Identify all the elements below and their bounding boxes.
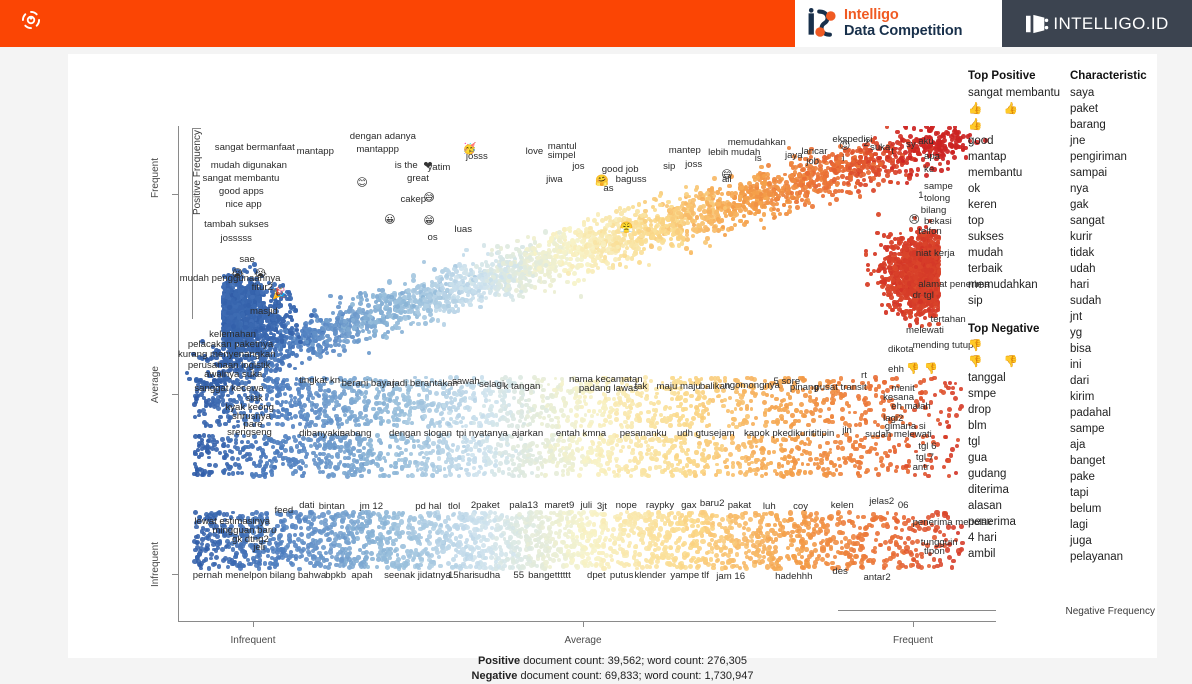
scatter-point[interactable] — [464, 298, 469, 303]
scatter-point[interactable] — [786, 186, 791, 191]
scatter-point[interactable] — [525, 247, 529, 251]
scatter-point[interactable] — [452, 267, 456, 271]
scatter-point[interactable] — [869, 153, 873, 157]
scatter-point[interactable] — [511, 298, 515, 302]
scatter-point[interactable] — [307, 332, 311, 336]
scatter-point[interactable] — [803, 193, 808, 198]
scatter-point[interactable] — [288, 315, 292, 319]
scatter-point[interactable] — [553, 290, 557, 294]
scatter-point[interactable] — [845, 190, 849, 194]
scatter-point[interactable] — [617, 217, 622, 222]
scatter-point[interactable] — [333, 331, 337, 335]
scatter-point[interactable] — [547, 243, 551, 247]
scatter-point[interactable] — [429, 319, 433, 323]
scatter-point[interactable] — [855, 149, 859, 153]
scatter-point[interactable] — [547, 254, 552, 259]
scatter-point[interactable] — [497, 293, 501, 297]
scatter-point[interactable] — [685, 213, 690, 218]
scatter-point[interactable] — [494, 259, 498, 263]
scatter-point[interactable] — [787, 200, 792, 205]
scatter-point[interactable] — [518, 250, 522, 254]
scatter-point[interactable] — [519, 260, 524, 265]
scatter-point[interactable] — [791, 165, 795, 169]
scatter-point[interactable] — [903, 316, 908, 321]
scatter-point[interactable] — [580, 239, 584, 243]
scatter-point[interactable] — [542, 280, 546, 284]
scatter-point[interactable] — [877, 168, 881, 172]
scatter-point[interactable] — [411, 278, 416, 283]
scatter-point[interactable] — [613, 257, 618, 262]
scatter-point[interactable] — [309, 313, 314, 318]
scatter-point[interactable] — [918, 153, 922, 157]
scatter-point[interactable] — [835, 183, 840, 188]
scatter-point[interactable] — [882, 165, 887, 170]
scatter-point[interactable] — [603, 255, 607, 259]
scatter-point[interactable] — [858, 194, 862, 198]
scatter-point[interactable] — [331, 311, 335, 315]
scatter-point[interactable] — [484, 296, 488, 300]
scatter-point[interactable] — [774, 192, 778, 196]
scatter-point[interactable] — [253, 300, 257, 304]
scatter-point[interactable] — [595, 255, 600, 260]
scatter-point[interactable] — [652, 197, 656, 201]
scatter-point[interactable] — [759, 218, 763, 222]
scatter-point[interactable] — [568, 226, 572, 230]
scatter-point[interactable] — [691, 234, 695, 238]
scatter-point[interactable] — [297, 335, 301, 339]
scatter-point[interactable] — [242, 297, 246, 301]
scatter-point[interactable] — [778, 212, 782, 216]
scatter-point[interactable] — [897, 151, 901, 155]
scatter-point[interactable] — [742, 214, 746, 218]
scatter-point[interactable] — [240, 312, 245, 317]
scatter-point[interactable] — [404, 302, 409, 307]
scatter-point[interactable] — [864, 252, 868, 256]
scatter-point[interactable] — [947, 126, 951, 130]
scatter-point[interactable] — [766, 176, 770, 180]
scatter-point[interactable] — [584, 250, 589, 255]
scatter-point[interactable] — [767, 181, 772, 186]
scatter-point[interactable] — [915, 173, 919, 177]
scatter-point[interactable] — [905, 181, 909, 185]
scatter-point[interactable] — [887, 265, 892, 270]
scatter-point[interactable] — [856, 189, 861, 194]
scatter-point[interactable] — [412, 304, 416, 308]
scatter-point[interactable] — [738, 195, 742, 199]
scatter-point[interactable] — [834, 197, 839, 202]
scatter-point[interactable] — [325, 351, 329, 355]
scatter-point[interactable] — [259, 326, 263, 330]
scatter-point[interactable] — [709, 200, 714, 205]
scatter-point[interactable] — [731, 217, 735, 221]
scatter-point[interactable] — [695, 185, 699, 189]
scatter-point[interactable] — [382, 293, 387, 298]
scatter-point[interactable] — [527, 279, 531, 283]
scatter-point[interactable] — [777, 179, 782, 184]
scatter-point[interactable] — [678, 224, 682, 228]
scatter-point[interactable] — [871, 162, 875, 166]
scatter-point[interactable] — [876, 212, 881, 217]
scatter-point[interactable] — [896, 181, 900, 185]
scatter-point[interactable] — [436, 295, 440, 299]
scatter-point[interactable] — [855, 181, 859, 185]
scatter-point[interactable] — [878, 162, 882, 166]
scatter-point[interactable] — [367, 330, 371, 334]
scatter-point[interactable] — [863, 183, 867, 187]
scatter-point[interactable] — [317, 337, 321, 341]
scatter-point[interactable] — [811, 180, 815, 184]
scatter-point[interactable] — [613, 248, 617, 252]
scatter-point[interactable] — [798, 179, 803, 184]
scatter-point[interactable] — [733, 223, 737, 227]
scatter-point[interactable] — [766, 163, 771, 168]
scatter-point[interactable] — [643, 209, 648, 214]
scatter-point[interactable] — [752, 191, 756, 195]
scatter-point[interactable] — [660, 230, 664, 234]
scatter-point[interactable] — [758, 201, 762, 205]
scatter-point[interactable] — [239, 305, 244, 310]
scatter-point[interactable] — [537, 243, 542, 248]
scatter-point[interactable] — [287, 292, 292, 297]
scatter-point[interactable] — [229, 315, 233, 319]
scatter-point[interactable] — [403, 282, 407, 286]
scatter-point[interactable] — [914, 158, 918, 162]
scatter-point[interactable] — [618, 262, 622, 266]
scatter-point[interactable] — [572, 271, 577, 276]
scatter-point[interactable] — [482, 243, 487, 248]
scatter-point[interactable] — [440, 286, 445, 291]
scatter-point[interactable] — [557, 260, 561, 264]
scatter-point[interactable] — [848, 166, 852, 170]
scatter-point[interactable] — [640, 214, 644, 218]
scatter-point[interactable] — [564, 242, 569, 247]
scatter-point[interactable] — [280, 356, 285, 361]
scatter-point[interactable] — [484, 260, 488, 264]
scatter-point[interactable] — [873, 252, 877, 256]
scatter-point[interactable] — [624, 265, 628, 269]
scatter-point[interactable] — [489, 252, 494, 257]
scatter-point[interactable] — [542, 255, 547, 260]
scatter-point[interactable] — [625, 246, 629, 250]
scatter-point[interactable] — [712, 176, 717, 181]
scatter-point[interactable] — [884, 310, 889, 315]
scatter-point[interactable] — [657, 246, 662, 251]
scatter-point[interactable] — [446, 304, 451, 309]
scatter-point[interactable] — [915, 317, 919, 321]
scatter-point[interactable] — [939, 168, 943, 172]
scatter-point[interactable] — [506, 284, 510, 288]
scatter-point[interactable] — [840, 189, 844, 193]
scatter-point[interactable] — [772, 207, 776, 211]
scatter-point[interactable] — [695, 215, 700, 220]
scatter-point[interactable] — [950, 150, 955, 155]
scatter-point[interactable] — [290, 326, 294, 330]
scatter-point[interactable] — [580, 247, 585, 252]
scatter-point[interactable] — [684, 246, 688, 250]
scatter-point[interactable] — [637, 260, 642, 265]
scatter-point[interactable] — [660, 240, 665, 245]
scatter-point[interactable] — [643, 200, 648, 205]
scatter-point[interactable] — [288, 336, 292, 340]
scatter-point[interactable] — [454, 275, 459, 280]
scatter-point[interactable] — [566, 271, 571, 276]
scatter-point[interactable] — [432, 267, 437, 272]
scatter-point[interactable] — [771, 202, 776, 207]
scatter-point[interactable] — [333, 342, 337, 346]
scatter-point[interactable] — [862, 178, 866, 182]
scatter-point[interactable] — [329, 344, 333, 348]
scatter-point[interactable] — [393, 314, 398, 319]
scatter-point[interactable] — [866, 263, 870, 267]
scatter-point[interactable] — [630, 242, 634, 246]
scatter-point[interactable] — [403, 316, 408, 321]
scatter-point[interactable] — [639, 250, 644, 255]
scatter-point[interactable] — [312, 331, 316, 335]
scatter-point[interactable] — [586, 234, 590, 238]
scatter-point[interactable] — [453, 299, 458, 304]
scatter-point[interactable] — [891, 158, 895, 162]
scatter-point[interactable] — [390, 326, 395, 331]
scatter-point[interactable] — [821, 194, 825, 198]
scatter-point[interactable] — [479, 285, 483, 289]
scatter-point[interactable] — [782, 203, 786, 207]
scatter-point[interactable] — [442, 322, 447, 327]
scatter-point[interactable] — [679, 215, 683, 219]
scatter-point[interactable] — [912, 126, 917, 131]
scatter-point[interactable] — [881, 178, 886, 183]
scatter-point[interactable] — [422, 297, 426, 301]
scatter-point[interactable] — [233, 292, 238, 297]
scatter-point[interactable] — [367, 351, 371, 355]
scatter-point[interactable] — [889, 180, 893, 184]
scatter-point[interactable] — [388, 313, 393, 318]
scatter-point[interactable] — [685, 237, 690, 242]
scatter-point[interactable] — [264, 370, 269, 375]
scatter-point[interactable] — [890, 166, 894, 170]
scatter-point[interactable] — [478, 305, 482, 309]
scatter-point[interactable] — [565, 280, 569, 284]
scatter-point[interactable] — [422, 315, 427, 320]
scatter-point[interactable] — [946, 160, 950, 164]
scatter-point[interactable] — [608, 236, 612, 240]
scatter-point[interactable] — [698, 205, 703, 210]
scatter-point[interactable] — [898, 134, 903, 139]
scatter-point[interactable] — [363, 291, 367, 295]
scatter-point[interactable] — [225, 294, 230, 299]
scatter-point[interactable] — [338, 295, 343, 300]
scatter-point[interactable] — [325, 339, 330, 344]
scatter-point[interactable] — [479, 298, 484, 303]
scatter-point[interactable] — [596, 266, 600, 270]
scatter-point[interactable] — [572, 281, 577, 286]
scatter-point[interactable] — [708, 244, 712, 248]
scatter-point[interactable] — [702, 229, 706, 233]
scatter-point[interactable] — [346, 327, 351, 332]
scatter-point[interactable] — [650, 234, 655, 239]
scatter-point[interactable] — [273, 368, 277, 372]
scatter-point[interactable] — [898, 147, 902, 151]
scatter-point[interactable] — [742, 205, 746, 209]
scatter-point[interactable] — [350, 335, 354, 339]
scatter-point[interactable] — [543, 229, 548, 234]
scatter-point[interactable] — [356, 314, 360, 318]
scatter-point[interactable] — [886, 155, 890, 159]
scatter-point[interactable] — [294, 353, 299, 358]
scatter-point[interactable] — [477, 289, 481, 293]
scatter-point[interactable] — [775, 202, 779, 206]
scatter-point[interactable] — [281, 283, 286, 288]
scatter-point[interactable] — [495, 244, 500, 249]
scatter-point[interactable] — [350, 302, 355, 307]
scatter-point[interactable] — [618, 206, 622, 210]
scatter-point[interactable] — [875, 231, 880, 236]
scatter-point[interactable] — [531, 274, 535, 278]
scatter-point[interactable] — [377, 288, 381, 292]
scatter-point[interactable] — [661, 218, 665, 222]
scatter-point[interactable] — [729, 226, 733, 230]
scatter-point[interactable] — [291, 345, 295, 349]
scatter-point[interactable] — [351, 297, 355, 301]
scatter-point[interactable] — [623, 250, 627, 254]
scatter-point[interactable] — [528, 255, 533, 260]
scatter-point[interactable] — [287, 363, 292, 368]
scatter-point[interactable] — [576, 278, 581, 283]
scatter-point[interactable] — [278, 367, 282, 371]
scatter-point[interactable] — [537, 279, 541, 283]
scatter-point[interactable] — [311, 350, 315, 354]
scatter-point[interactable] — [294, 308, 298, 312]
scatter-point[interactable] — [570, 264, 575, 269]
scatter-point[interactable] — [866, 170, 871, 175]
scatter-point[interactable] — [897, 169, 902, 174]
scatter-point[interactable] — [647, 263, 652, 268]
scatter-point[interactable] — [909, 227, 914, 232]
scatter-point[interactable] — [411, 273, 416, 278]
scatter-point[interactable] — [684, 185, 688, 189]
scatter-point[interactable] — [365, 298, 369, 302]
scatter-point[interactable] — [331, 349, 335, 353]
scatter-point[interactable] — [341, 344, 346, 349]
scatter-point[interactable] — [185, 371, 189, 375]
scatter-point[interactable] — [272, 322, 277, 327]
scatter-point[interactable] — [899, 232, 903, 236]
scatter-point[interactable] — [653, 208, 657, 212]
scatter-point[interactable] — [590, 264, 595, 269]
scatter-point[interactable] — [336, 305, 341, 310]
scatter-point[interactable] — [837, 189, 841, 193]
scatter-point[interactable] — [316, 329, 321, 334]
scatter-point[interactable] — [287, 352, 291, 356]
scatter-point[interactable] — [307, 327, 312, 332]
scatter-point[interactable] — [557, 230, 562, 235]
scatter-point[interactable] — [258, 333, 262, 337]
scatter-point[interactable] — [464, 248, 469, 253]
scatter-point[interactable] — [523, 252, 527, 256]
scatter-point[interactable] — [384, 304, 389, 309]
scatter-point[interactable] — [885, 126, 889, 129]
scatter-point[interactable] — [916, 167, 921, 172]
scatter-point[interactable] — [865, 282, 870, 287]
scatter-point[interactable] — [366, 303, 371, 308]
scatter-point[interactable] — [609, 251, 613, 255]
scatter-point[interactable] — [533, 240, 537, 244]
scatter-point[interactable] — [611, 265, 615, 269]
scatter-point[interactable] — [496, 250, 501, 255]
scatter-point[interactable] — [546, 270, 551, 275]
scatter-point[interactable] — [907, 301, 911, 305]
scatter-point[interactable] — [831, 163, 835, 167]
scatter-point[interactable] — [608, 222, 612, 226]
scatter-point[interactable] — [383, 332, 387, 336]
scatter-point[interactable] — [576, 246, 580, 250]
scatter-point[interactable] — [903, 126, 908, 129]
scatter-point[interactable] — [548, 283, 553, 288]
scatter-point[interactable] — [526, 235, 531, 240]
scatter-point[interactable] — [358, 301, 363, 306]
scatter-point[interactable] — [239, 288, 243, 292]
scatter-point[interactable] — [841, 169, 845, 173]
scatter-point[interactable] — [590, 269, 595, 274]
scatter-point[interactable] — [739, 186, 743, 190]
scatter-point[interactable] — [288, 310, 292, 314]
scatter-point[interactable] — [468, 303, 472, 307]
scatter-point[interactable] — [416, 322, 421, 327]
scatter-point[interactable] — [403, 310, 407, 314]
scatter-point[interactable] — [509, 261, 513, 265]
scatter-point[interactable] — [846, 181, 850, 185]
scatter-point[interactable] — [505, 244, 510, 249]
scatter-point[interactable] — [466, 293, 470, 297]
scatter-point[interactable] — [344, 339, 349, 344]
scatter-point[interactable] — [942, 146, 946, 150]
scatter-point[interactable] — [676, 206, 680, 210]
scatter-point[interactable] — [649, 219, 653, 223]
scatter-point[interactable] — [714, 210, 719, 215]
scatter-point[interactable] — [897, 240, 902, 245]
scatter-point[interactable] — [294, 323, 299, 328]
scatter-point[interactable] — [669, 237, 673, 241]
scatter-point[interactable] — [712, 228, 717, 233]
scatter-point[interactable] — [759, 165, 763, 169]
scatter-point[interactable] — [876, 156, 880, 160]
scatter-point[interactable] — [885, 173, 889, 177]
scatter-point[interactable] — [934, 131, 938, 135]
scatter-point[interactable] — [411, 321, 415, 325]
scatter-point[interactable] — [720, 192, 724, 196]
scatter-point[interactable] — [828, 202, 832, 206]
scatter-point[interactable] — [551, 265, 555, 269]
scatter-point[interactable] — [299, 348, 303, 352]
scatter-point[interactable] — [694, 227, 698, 231]
scatter-point[interactable] — [275, 338, 280, 343]
scatter-point[interactable] — [409, 310, 413, 314]
scatter-point[interactable] — [307, 356, 312, 361]
scatter-point[interactable] — [670, 228, 674, 232]
scatter-point[interactable] — [839, 165, 844, 170]
scatter-point[interactable] — [630, 256, 635, 261]
scatter-point[interactable] — [338, 310, 343, 315]
scatter-point[interactable] — [387, 279, 392, 284]
scatter-point[interactable] — [649, 244, 653, 248]
scatter-point[interactable] — [860, 165, 864, 169]
scatter-point[interactable] — [515, 239, 519, 243]
scatter-point[interactable] — [726, 191, 730, 195]
scatter-point[interactable] — [657, 234, 662, 239]
scatter-point[interactable] — [384, 321, 389, 326]
scatter-point[interactable] — [880, 303, 884, 307]
scatter-point[interactable] — [874, 172, 878, 176]
scatter-point[interactable] — [871, 188, 876, 193]
